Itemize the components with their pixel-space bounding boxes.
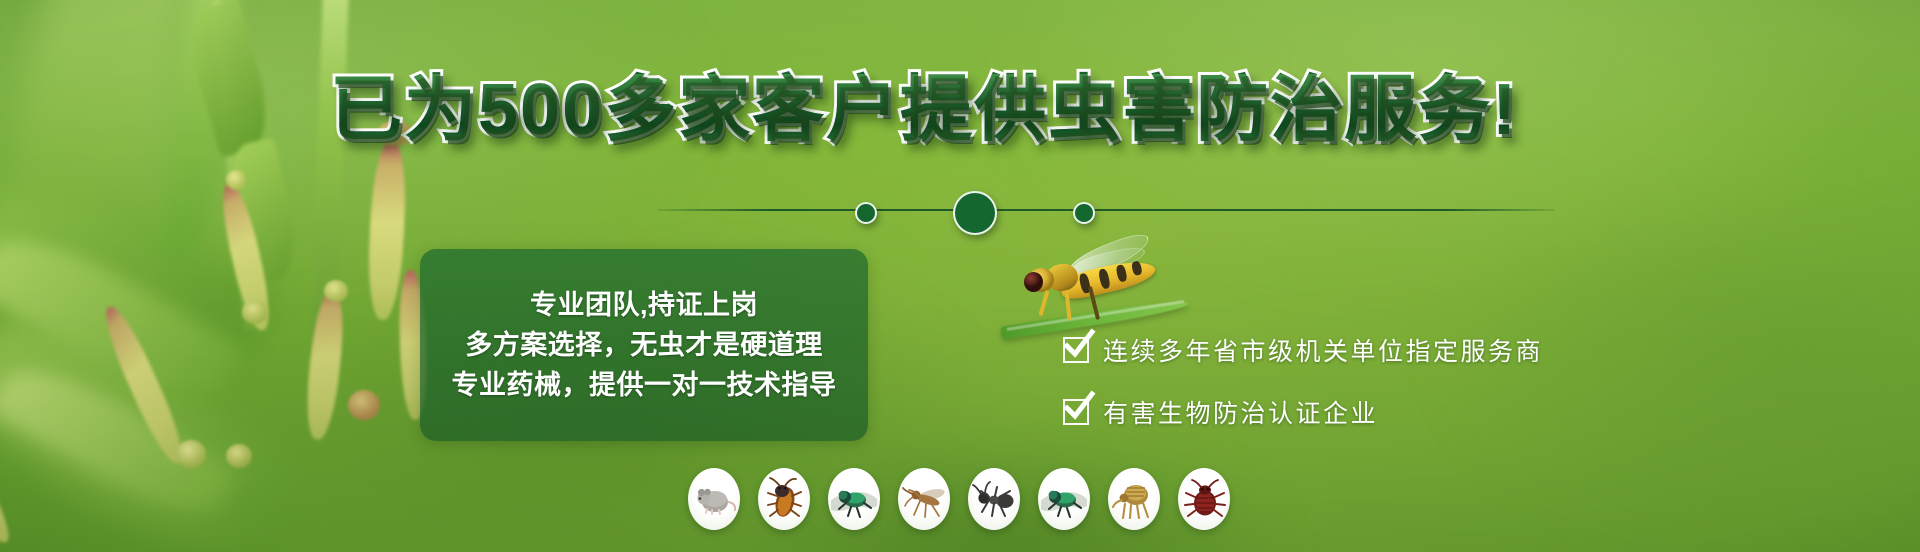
selling-point-line-1: 专业团队,持证上岗 xyxy=(530,287,758,323)
check-icon xyxy=(1063,399,1089,425)
list-item: 连续多年省市级机关单位指定服务商 xyxy=(1063,332,1543,368)
page-title: 已为500多家客户提供虫害防治服务! 已为500多家客户提供虫害防治服务! xyxy=(330,74,1530,146)
certification-list: 连续多年省市级机关单位指定服务商 有害生物防治认证企业 xyxy=(1063,332,1543,430)
fly-icon[interactable]: 苍蝇 xyxy=(1038,468,1090,530)
dot-small-left xyxy=(855,202,877,224)
headline-fill: 已为500多家客户提供虫害防治服务! xyxy=(330,74,1518,146)
ant-icon[interactable]: 蚂蚁 xyxy=(968,468,1020,530)
cockroach-icon[interactable]: 蟑螂 xyxy=(758,468,810,530)
list-item: 有害生物防治认证企业 xyxy=(1063,394,1543,430)
fly-icon[interactable]: 苍蝇 xyxy=(828,468,880,530)
bedbug-icon[interactable]: 臭虫 xyxy=(1178,468,1230,530)
selling-point-line-3: 专业药械，提供一对一技术指导 xyxy=(452,367,837,403)
pest-types-row: 鼠 蟑螂 xyxy=(688,468,1230,530)
mosquito-icon[interactable]: 蚊子 xyxy=(898,468,950,530)
pest-control-hero-banner: 已为500多家客户提供虫害防治服务! 已为500多家客户提供虫害防治服务! 专业… xyxy=(0,0,1920,552)
list-item-label: 连续多年省市级机关单位指定服务商 xyxy=(1103,332,1543,368)
divider xyxy=(658,209,1555,211)
flea-icon[interactable]: 跳蚤 xyxy=(1108,468,1160,530)
decorative-dots xyxy=(855,186,1095,240)
selling-points-panel: 专业团队,持证上岗 多方案选择，无虫才是硬道理 专业药械，提供一对一技术指导 xyxy=(420,249,868,441)
check-icon xyxy=(1063,337,1089,363)
rat-icon[interactable]: 鼠 xyxy=(688,468,740,530)
dot-large-center xyxy=(953,191,997,235)
dot-small-right xyxy=(1073,202,1095,224)
selling-point-line-2: 多方案选择，无虫才是硬道理 xyxy=(465,327,823,363)
list-item-label: 有害生物防治认证企业 xyxy=(1103,394,1378,430)
